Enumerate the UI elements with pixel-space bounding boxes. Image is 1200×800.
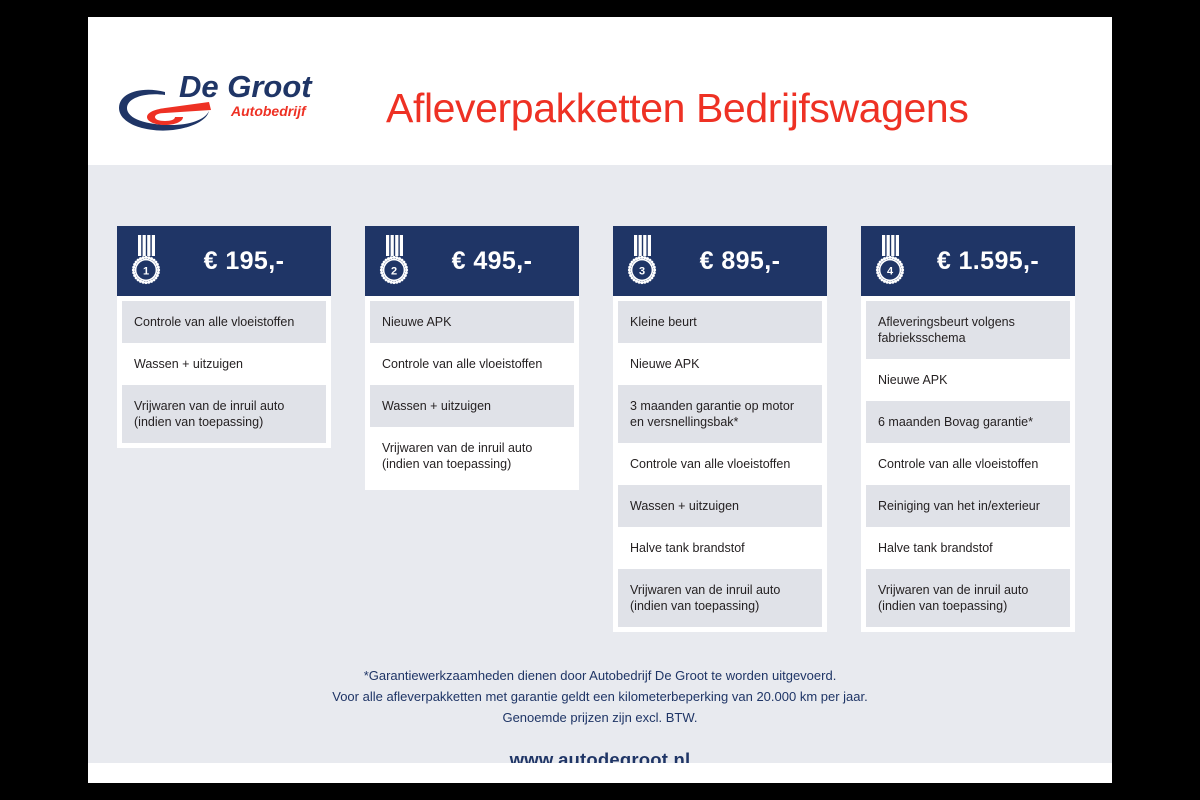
medal-ribbon xyxy=(882,235,899,256)
package-item-list: Kleine beurtNieuwe APK3 maanden garantie… xyxy=(613,296,827,632)
medal-disc: 4 xyxy=(876,256,904,284)
medal-icon: 3 xyxy=(625,235,659,287)
package-item: Nieuwe APK xyxy=(370,301,574,343)
package-item: 3 maanden garantie op motoren versnellin… xyxy=(618,385,822,443)
package-card: 2 € 495,-Nieuwe APKControle van alle vlo… xyxy=(365,226,579,490)
package-item: Wassen + uitzuigen xyxy=(370,385,574,427)
medal-icon: 1 xyxy=(129,235,163,287)
bottom-white-strip xyxy=(88,763,1112,783)
medal-icon: 3 xyxy=(625,235,659,287)
medal-icon: 2 xyxy=(377,235,411,287)
package-item: Wassen + uitzuigen xyxy=(618,485,822,527)
medal-ribbon xyxy=(634,235,651,256)
package-card: 1 € 195,-Controle van alle vloeistoffenW… xyxy=(117,226,331,448)
package-item: Vrijwaren van de inruil auto(indien van … xyxy=(618,569,822,627)
medal-number: 3 xyxy=(639,265,645,277)
medal-disc: 3 xyxy=(628,256,656,284)
package-item-list: Controle van alle vloeistoffenWassen + u… xyxy=(117,296,331,448)
package-card-header: 2 € 495,- xyxy=(365,226,579,296)
package-item: Controle van alle vloeistoffen xyxy=(122,301,326,343)
footer-note-1: *Garantiewerkzaamheden dienen door Autob… xyxy=(88,665,1112,686)
package-item: Afleveringsbeurt volgensfabrieksschema xyxy=(866,301,1070,359)
package-item: Vrijwaren van de inruil auto(indien van … xyxy=(122,385,326,443)
package-item-list: Nieuwe APKControle van alle vloeistoffen… xyxy=(365,296,579,490)
medal-number: 2 xyxy=(391,265,397,277)
package-item: Reiniging van het in/exterieur xyxy=(866,485,1070,527)
medal-disc: 1 xyxy=(132,256,160,284)
package-price: € 895,- xyxy=(659,247,827,276)
package-item: 6 maanden Bovag garantie* xyxy=(866,401,1070,443)
package-item: Vrijwaren van de inruil auto(indien van … xyxy=(866,569,1070,627)
package-card: 4 € 1.595,-Afleveringsbeurt volgensfabri… xyxy=(861,226,1075,632)
logo-artwork: De Groot Autobedrijf xyxy=(113,64,323,136)
footer-note-2: Voor alle afleverpakketten met garantie … xyxy=(88,686,1112,707)
medal-number: 1 xyxy=(143,265,149,277)
medal-number: 4 xyxy=(887,265,894,277)
medal-ribbon xyxy=(386,235,403,256)
medal-icon: 4 xyxy=(873,235,907,287)
logo-brand-subtitle: Autobedrijf xyxy=(230,103,307,119)
package-price: € 195,- xyxy=(163,247,331,276)
package-item: Nieuwe APK xyxy=(618,343,822,385)
medal-icon: 4 xyxy=(873,235,907,287)
package-price: € 495,- xyxy=(411,247,579,276)
de-groot-autobedrijf-logo: De Groot Autobedrijf xyxy=(113,64,323,136)
package-item: Controle van alle vloeistoffen xyxy=(618,443,822,485)
package-item: Wassen + uitzuigen xyxy=(122,343,326,385)
page-title: Afleverpakketten Bedrijfswagens xyxy=(386,85,968,132)
package-card: 3 € 895,-Kleine beurtNieuwe APK3 maanden… xyxy=(613,226,827,632)
logo-brand-name: De Groot xyxy=(179,69,313,104)
package-item: Halve tank brandstof xyxy=(618,527,822,569)
medal-icon: 2 xyxy=(377,235,411,287)
page-footer: *Garantiewerkzaamheden dienen door Autob… xyxy=(88,665,1112,771)
package-card-header: 1 € 195,- xyxy=(117,226,331,296)
package-item: Nieuwe APK xyxy=(866,359,1070,401)
medal-disc: 2 xyxy=(380,256,408,284)
medal-ribbon xyxy=(138,235,155,256)
package-item: Kleine beurt xyxy=(618,301,822,343)
package-item: Halve tank brandstof xyxy=(866,527,1070,569)
poster-canvas: De Groot Autobedrijf Afleverpakketten Be… xyxy=(88,17,1112,783)
package-item: Vrijwaren van de inruil auto(indien van … xyxy=(370,427,574,485)
logo-mark-red xyxy=(147,102,211,125)
package-card-header: 3 € 895,- xyxy=(613,226,827,296)
page-header: De Groot Autobedrijf Afleverpakketten Be… xyxy=(88,17,1112,165)
package-cards: 1 € 195,-Controle van alle vloeistoffenW… xyxy=(117,226,1083,632)
package-card-header: 4 € 1.595,- xyxy=(861,226,1075,296)
package-item: Controle van alle vloeistoffen xyxy=(866,443,1070,485)
medal-icon: 1 xyxy=(129,235,163,287)
package-item: Controle van alle vloeistoffen xyxy=(370,343,574,385)
footer-note-3: Genoemde prijzen zijn excl. BTW. xyxy=(88,707,1112,728)
package-item-list: Afleveringsbeurt volgensfabrieksschemaNi… xyxy=(861,296,1075,632)
package-price: € 1.595,- xyxy=(907,247,1075,276)
